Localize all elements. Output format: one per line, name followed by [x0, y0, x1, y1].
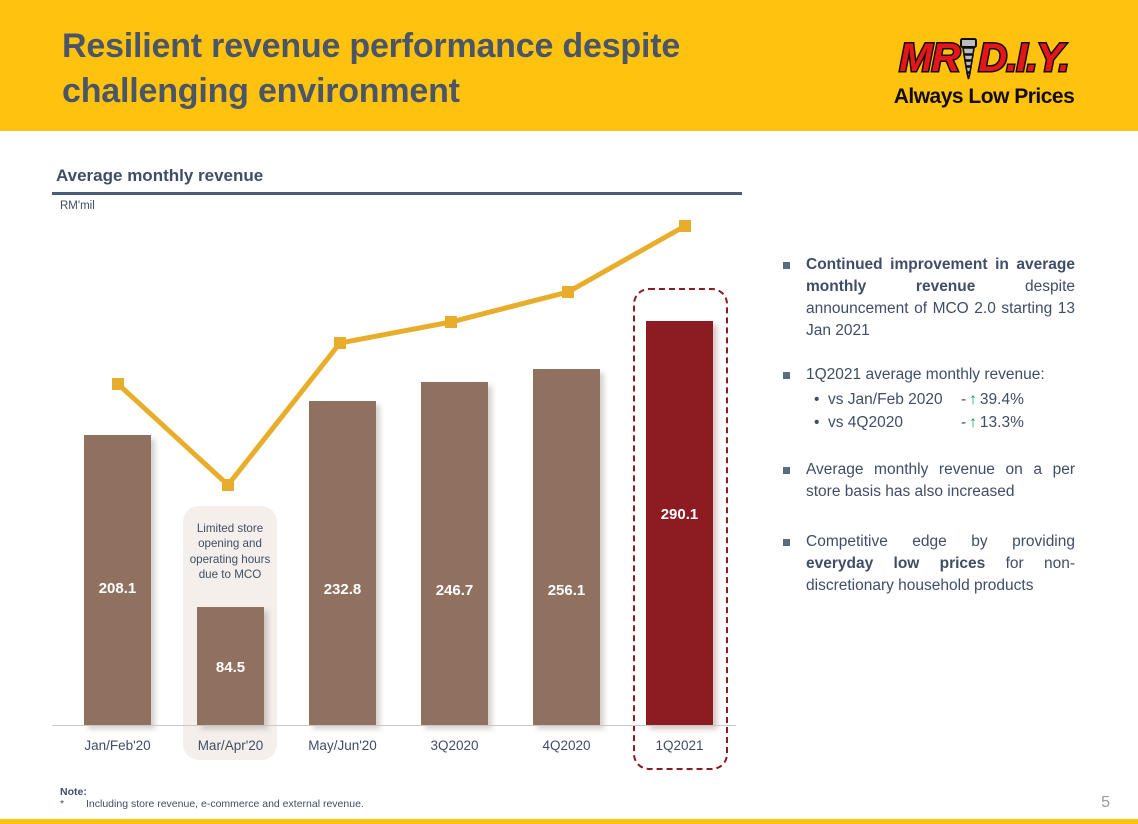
logo-text-diy: D.I.Y.	[978, 38, 1068, 78]
bar-value-label: 246.7	[421, 582, 488, 599]
bullet-plain-segment: 1Q2021 average monthly revenue:	[806, 364, 1075, 386]
bullet-square-icon	[783, 467, 790, 474]
page-title: Resilient revenue performance despite ch…	[62, 24, 822, 114]
bar-value-label: 232.8	[309, 581, 376, 598]
category-label-may-jun-20: May/Jun'20	[289, 738, 396, 753]
bar-value-label: 290.1	[646, 506, 713, 523]
bullet-text: 1Q2021 average monthly revenue: • vs Jan…	[806, 364, 1075, 435]
bullet-text: Average monthly revenue on a per store b…	[806, 459, 1075, 503]
slide-header: Resilient revenue performance despite ch…	[0, 0, 1138, 131]
bar-value-label: 84.5	[197, 659, 264, 676]
bar-value-label: 208.1	[84, 580, 151, 597]
sub-bullet-dot-icon: •	[814, 388, 828, 411]
section-divider	[52, 192, 742, 195]
mco-annotation-text: Limited store opening and operating hour…	[185, 521, 275, 582]
sub-item-value: 39.4%	[980, 388, 1024, 411]
note-text: Including store revenue, e-commerce and …	[86, 798, 364, 810]
bar-value-label: 256.1	[533, 582, 600, 599]
screw-icon	[960, 38, 977, 80]
revenue-chart: Limited store opening and operating hour…	[52, 210, 742, 770]
arrow-up-icon: ↑	[969, 388, 977, 411]
bullet-text: Competitive edge by providing everyday l…	[806, 531, 1075, 597]
chart-baseline-axis	[52, 725, 736, 726]
sub-item-value: 13.3%	[980, 411, 1024, 434]
sub-item-label: vs Jan/Feb 2020	[828, 388, 961, 411]
page-number: 5	[1101, 794, 1110, 812]
bar-jan-feb-20: 208.1	[84, 435, 151, 725]
bullet-per-store-basis: Average monthly revenue on a per store b…	[783, 459, 1075, 503]
sub-item-vs-4q2020: • vs 4Q2020 - ↑ 13.3%	[806, 411, 1075, 434]
bar-3q2020: 246.7	[421, 382, 488, 725]
bullet-square-icon	[783, 539, 790, 546]
bar-1q2021: 290.1	[646, 321, 713, 725]
category-label-1q2021: 1Q2021	[626, 738, 733, 753]
bullet-continued-improvement: Continued improvement in average monthly…	[783, 254, 1075, 342]
sub-bullet-dot-icon: •	[814, 411, 828, 434]
logo-wordmark: MR D.I.Y.	[899, 32, 1069, 84]
bar-mar-apr-20: 84.5	[197, 607, 264, 725]
sub-item-vs-jan-feb-2020: • vs Jan/Feb 2020 - ↑ 39.4%	[806, 388, 1075, 411]
arrow-up-icon: ↑	[969, 411, 977, 434]
sub-item-label: vs 4Q2020	[828, 411, 961, 434]
bottom-accent-bar	[0, 819, 1138, 824]
logo-tagline: Always Low Prices	[894, 86, 1075, 107]
sub-item-dash: -	[961, 388, 966, 411]
bullet-1q2021-average: 1Q2021 average monthly revenue: • vs Jan…	[783, 364, 1075, 435]
bullet-square-icon	[783, 262, 790, 269]
section-title: Average monthly revenue	[56, 166, 263, 186]
logo-text-mr: MR	[899, 38, 959, 78]
sub-item-dash: -	[961, 411, 966, 434]
mrdiy-logo: MR D.I.Y. Always Low Prices	[858, 24, 1110, 114]
key-points-list: Continued improvement in average monthly…	[783, 254, 1075, 619]
bar-may-jun-20: 232.8	[309, 401, 376, 725]
category-label-mar-apr-20: Mar/Apr'20	[177, 738, 284, 753]
category-label-3q2020: 3Q2020	[401, 738, 508, 753]
category-label-4q2020: 4Q2020	[513, 738, 620, 753]
slide: Resilient revenue performance despite ch…	[0, 0, 1138, 824]
bullet-square-icon	[783, 372, 790, 379]
chart-category-axis: Jan/Feb'20 Mar/Apr'20 May/Jun'20 3Q2020 …	[52, 730, 736, 760]
bar-4q2020: 256.1	[533, 369, 600, 725]
category-label-jan-feb-20: Jan/Feb'20	[64, 738, 171, 753]
bullet-text: Continued improvement in average monthly…	[806, 254, 1075, 342]
bullet-bold-segment: everyday low prices	[806, 555, 985, 572]
note-heading: Note:	[60, 786, 87, 798]
note-asterisk: *	[60, 798, 64, 810]
bullet-competitive-edge: Competitive edge by providing everyday l…	[783, 531, 1075, 597]
bullet-plain-segment: Competitive edge by providing	[806, 533, 1075, 550]
bullet-sub-list: • vs Jan/Feb 2020 - ↑ 39.4% • vs 4Q2020 …	[806, 388, 1075, 435]
chart-plot-area: Limited store opening and operating hour…	[52, 210, 742, 725]
